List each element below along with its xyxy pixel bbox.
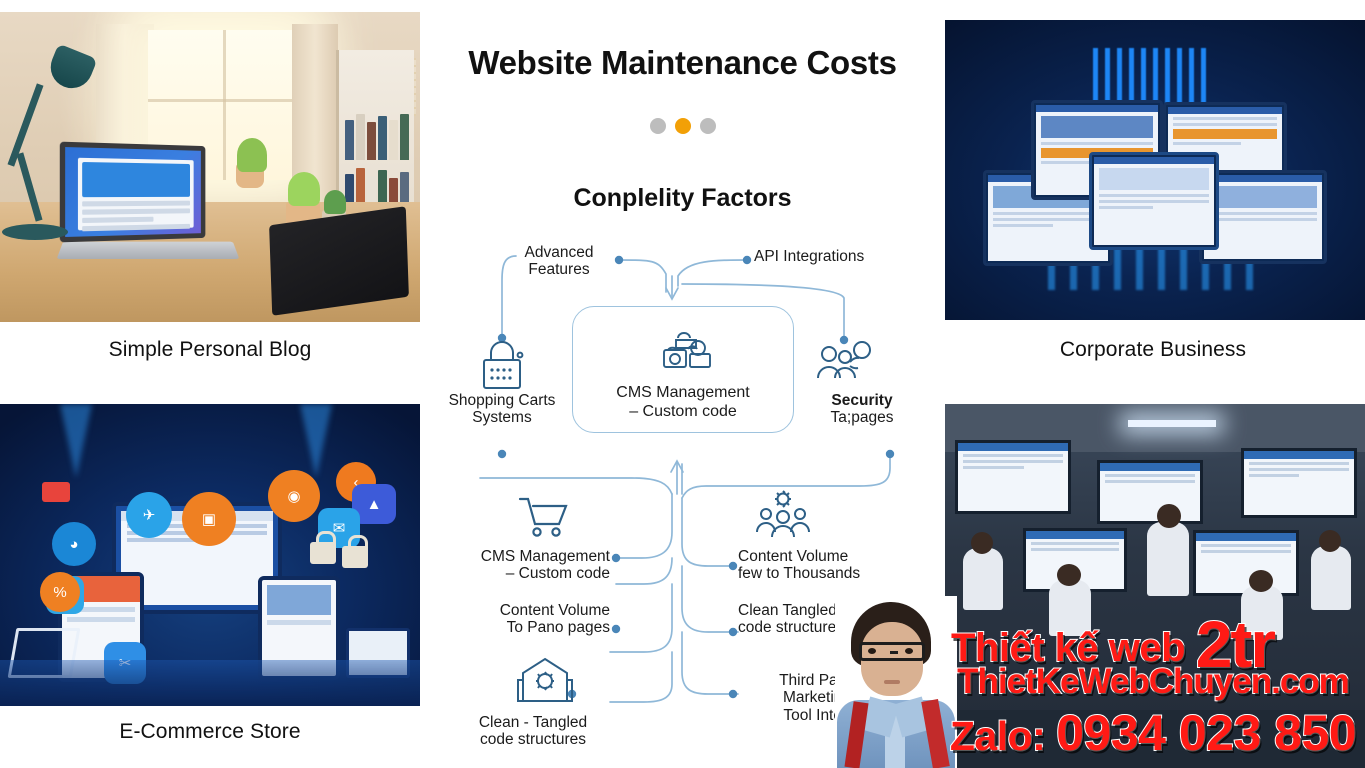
diagram-node-cms-management-lower[interactable]: CMS Management – Custom code: [438, 548, 610, 583]
diagram-node-security[interactable]: Security Ta;pages: [792, 392, 932, 427]
diagram-node-clean-tangled-left[interactable]: Clean - Tangled code structures: [448, 714, 618, 749]
padlock-icon: [342, 546, 368, 568]
discount-badge-icon: %: [40, 572, 80, 612]
photo-ecommerce-store: ✈ ◕ ▣ ✈ ◉ ‹ ▲ ✉ ✂ %: [0, 404, 420, 706]
diagram-center-node-label: CMS Management – Custom code: [572, 384, 794, 422]
diagram-node-advanced-features[interactable]: Advanced Features: [498, 244, 620, 279]
photo-simple-personal-blog: [0, 12, 420, 322]
diagram-node-content-volume-thousands[interactable]: Content Volume few to Thousands: [738, 548, 918, 583]
slide-pagination-dots[interactable]: [420, 118, 945, 134]
diagram-node-shopping-carts-systems[interactable]: Shopping Carts Systems: [430, 392, 574, 427]
caption-ecommerce-store: E-Commerce Store: [0, 720, 420, 744]
slide-canvas: Simple Personal Blog: [0, 0, 1365, 768]
webcam-mouth: [884, 680, 900, 684]
instagram-icon: ▣: [182, 492, 236, 546]
messenger-icon: ✈: [126, 492, 172, 538]
photo-office-team: [941, 404, 1365, 768]
photo-corporate-business: [941, 20, 1365, 320]
slide-dot-2[interactable]: [675, 118, 691, 134]
section-subtitle: Conplelity Factors: [420, 184, 945, 213]
caption-corporate-business: Corporate Business: [943, 338, 1363, 362]
caption-simple-personal-blog: Simple Personal Blog: [0, 338, 420, 362]
bookshelf-decor: [336, 50, 414, 220]
clock-icon: ◕: [52, 522, 96, 566]
diagram-node-content-volume-pano[interactable]: Content Volume To Pano pages: [442, 602, 610, 637]
presenter-webcam-overlay[interactable]: [835, 596, 957, 768]
slide-dot-1[interactable]: [650, 118, 666, 134]
padlock-icon: [310, 542, 336, 564]
page-title: Website Maintenance Costs: [420, 44, 945, 82]
diagram-node-api-integrations[interactable]: API Integrations: [754, 248, 914, 265]
glasses-icon: [859, 642, 925, 661]
user-icon: ◉: [268, 470, 320, 522]
slide-dot-3[interactable]: [700, 118, 716, 134]
tag-icon: [42, 482, 70, 502]
